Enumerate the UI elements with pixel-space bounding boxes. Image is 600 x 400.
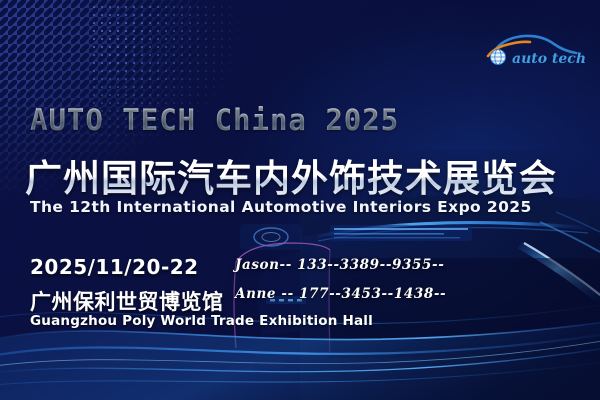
contact-anne: Anne -- 177--3453--1438-- (235, 286, 446, 302)
subtitle-english: The 12th International Automotive Interi… (30, 198, 532, 216)
venue-chinese: 广州保利世贸博览馆 (30, 286, 224, 316)
event-date: 2025/11/20-22 (30, 255, 199, 279)
auto-tech-logo[interactable]: auto tech (476, 26, 586, 72)
page-title: AUTO TECH China 2025 (30, 103, 399, 137)
venue-english: Guangzhou Poly World Trade Exhibition Ha… (30, 313, 373, 329)
title-chinese: 广州国际汽车内外饰技术展览会 (25, 148, 557, 202)
contact-jason: Jason-- 133--3389--9355-- (235, 257, 444, 273)
event-banner: auto tech AUTO TECH China 2025 广州国际汽车内外饰… (0, 0, 600, 400)
logo-wordmark: auto tech (512, 51, 586, 67)
